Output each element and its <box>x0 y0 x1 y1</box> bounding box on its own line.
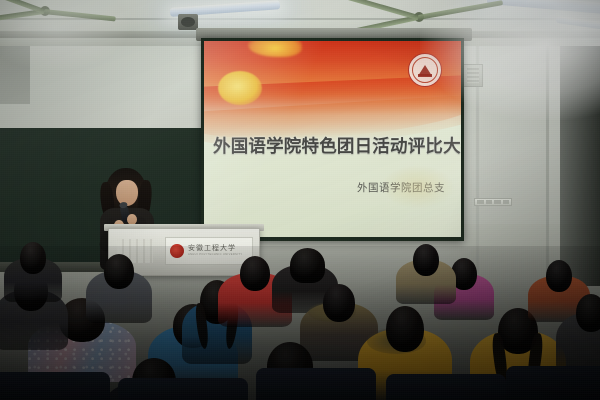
lecture-hall-photo: 外国语学院特色团日活动评比大赛 外国语学院团总支 安徽工程大学 ANHUI PO… <box>0 0 600 400</box>
color-cast <box>0 0 600 400</box>
